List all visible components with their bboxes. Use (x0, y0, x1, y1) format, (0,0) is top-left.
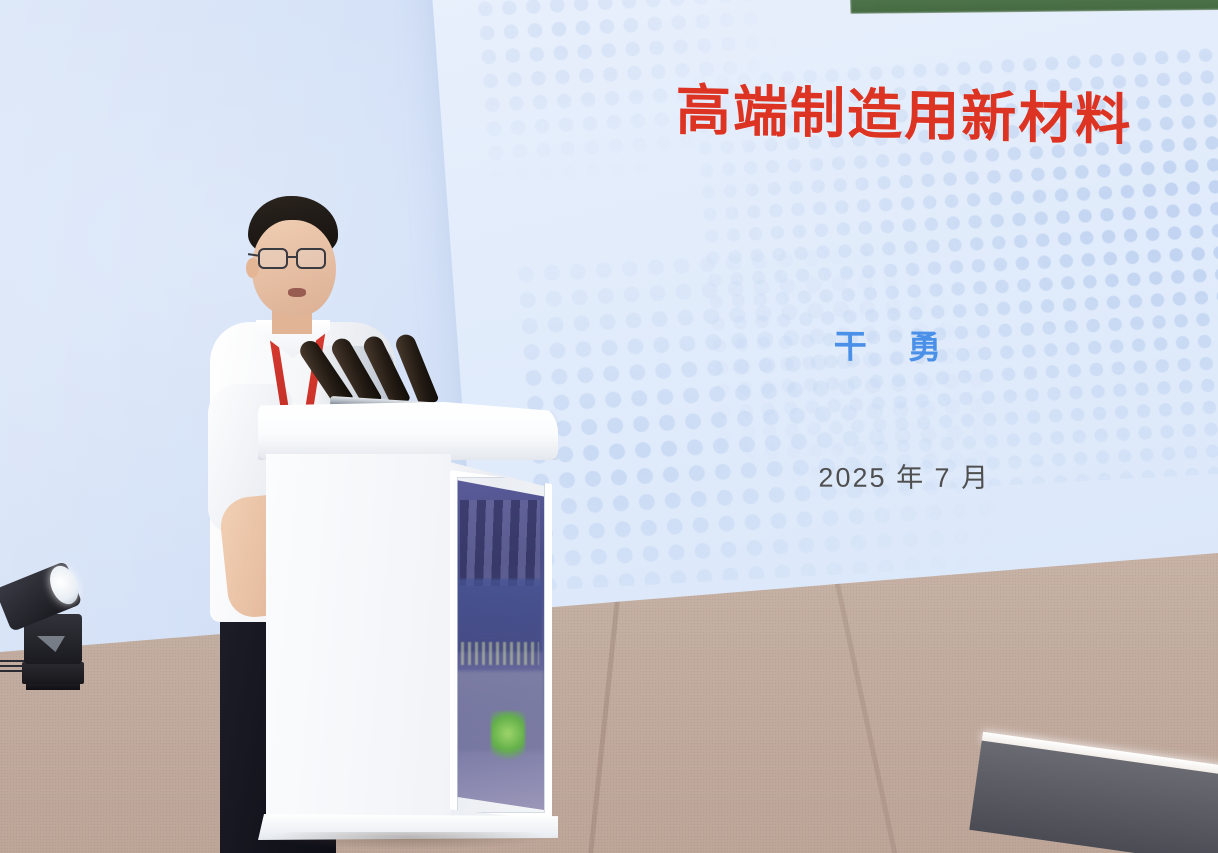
eyeglass-lens-left (258, 248, 288, 269)
dot-pattern-mid-icon (512, 237, 1006, 592)
slide-date: 2025 年 7 月 (818, 456, 990, 495)
speaker-mouth (288, 288, 306, 297)
lectern-floor-shadow (268, 832, 548, 850)
conference-stage-photo: 高端制造用新材料 干 勇 2025 年 7 月 (0, 0, 1218, 853)
campus-building-photo (845, 0, 1218, 14)
white-lectern (258, 402, 558, 852)
light-lens-icon (45, 562, 84, 609)
slide-presenter-name: 干 勇 (833, 320, 957, 369)
lectern-glass-frame (450, 470, 552, 820)
eyeglass-lens-right (296, 248, 326, 269)
slide-title: 高端制造用新材料 (676, 65, 1133, 155)
lectern-front-panel (266, 454, 451, 822)
light-base (22, 662, 84, 684)
eyeglasses-icon (258, 248, 332, 270)
photo-greenery (849, 0, 1218, 14)
eyeglass-bridge (288, 256, 297, 258)
lectern-top-surface (258, 402, 558, 460)
moving-head-spotlight (6, 566, 98, 684)
